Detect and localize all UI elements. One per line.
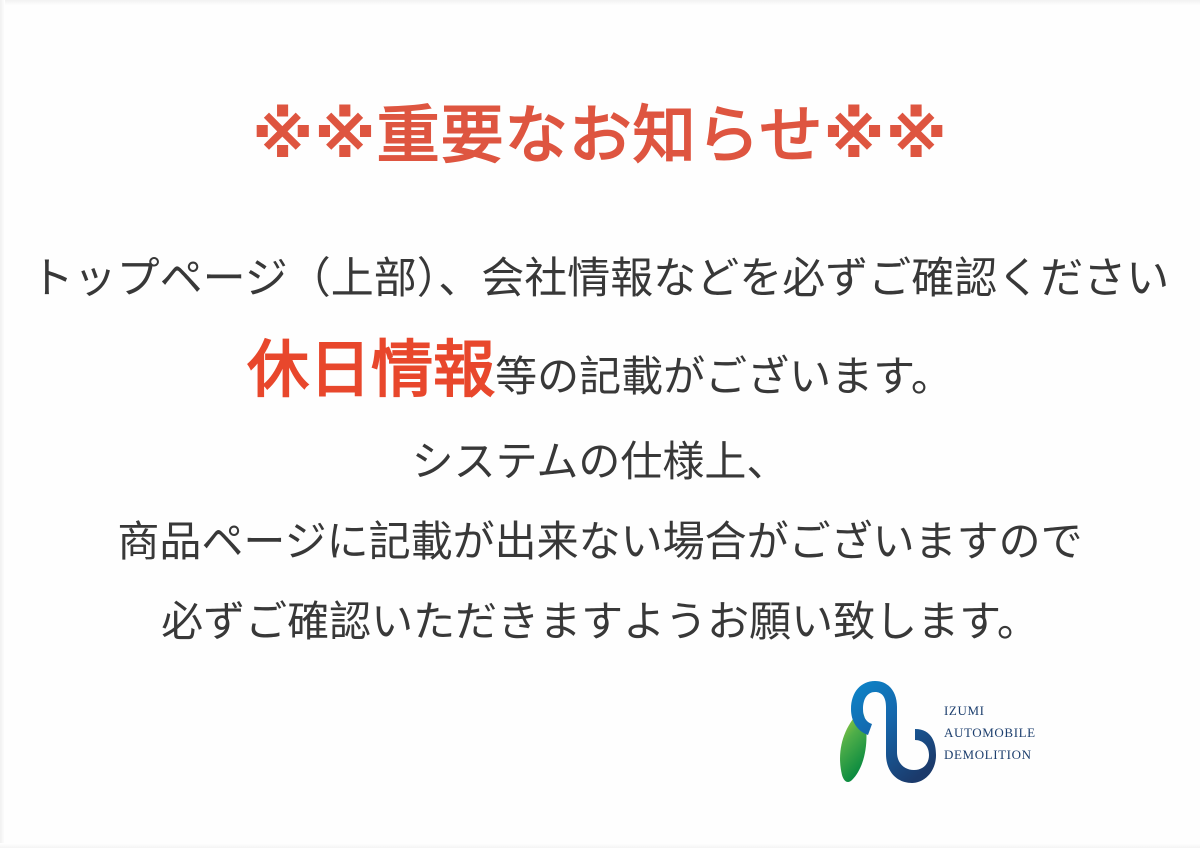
logo-wordmark: Izumi Automobile Demolition xyxy=(944,699,1036,766)
notice-body-line-2: 休日情報等の記載がございます。 xyxy=(0,339,1200,441)
notice-title: ※※重要なお知らせ※※ xyxy=(0,104,1200,167)
notice-body-line-1: トップページ（上部）、会社情報などを必ずご確認ください xyxy=(0,258,1200,339)
logo-text-izumi: Izumi xyxy=(944,699,1036,721)
notice-body-line-5: 必ずご確認いただきますようお願い致します。 xyxy=(0,601,1200,643)
notice-document: ※※重要なお知らせ※※ トップページ（上部）、会社情報などを必ずご確認ください … xyxy=(0,0,1200,848)
scan-edge-top xyxy=(0,0,1200,6)
notice-body: トップページ（上部）、会社情報などを必ずご確認ください 休日情報等の記載がござい… xyxy=(0,258,1200,643)
izumi-swirl-leaf-mark-icon xyxy=(828,676,936,788)
logo-text-automobile: Automobile xyxy=(944,721,1036,743)
notice-body-line-3: システムの仕様上、 xyxy=(0,441,1200,521)
notice-body-line-4: 商品ページに記載が出来ない場合がございますので xyxy=(0,521,1200,601)
logo-text-demolition: Demolition xyxy=(944,743,1036,765)
scan-edge-bottom xyxy=(0,843,1200,848)
company-logo: Izumi Automobile Demolition xyxy=(828,672,1118,792)
holiday-info-emphasis: 休日情報 xyxy=(247,333,495,406)
notice-body-line-2-rest: 等の記載がございます。 xyxy=(495,352,953,401)
